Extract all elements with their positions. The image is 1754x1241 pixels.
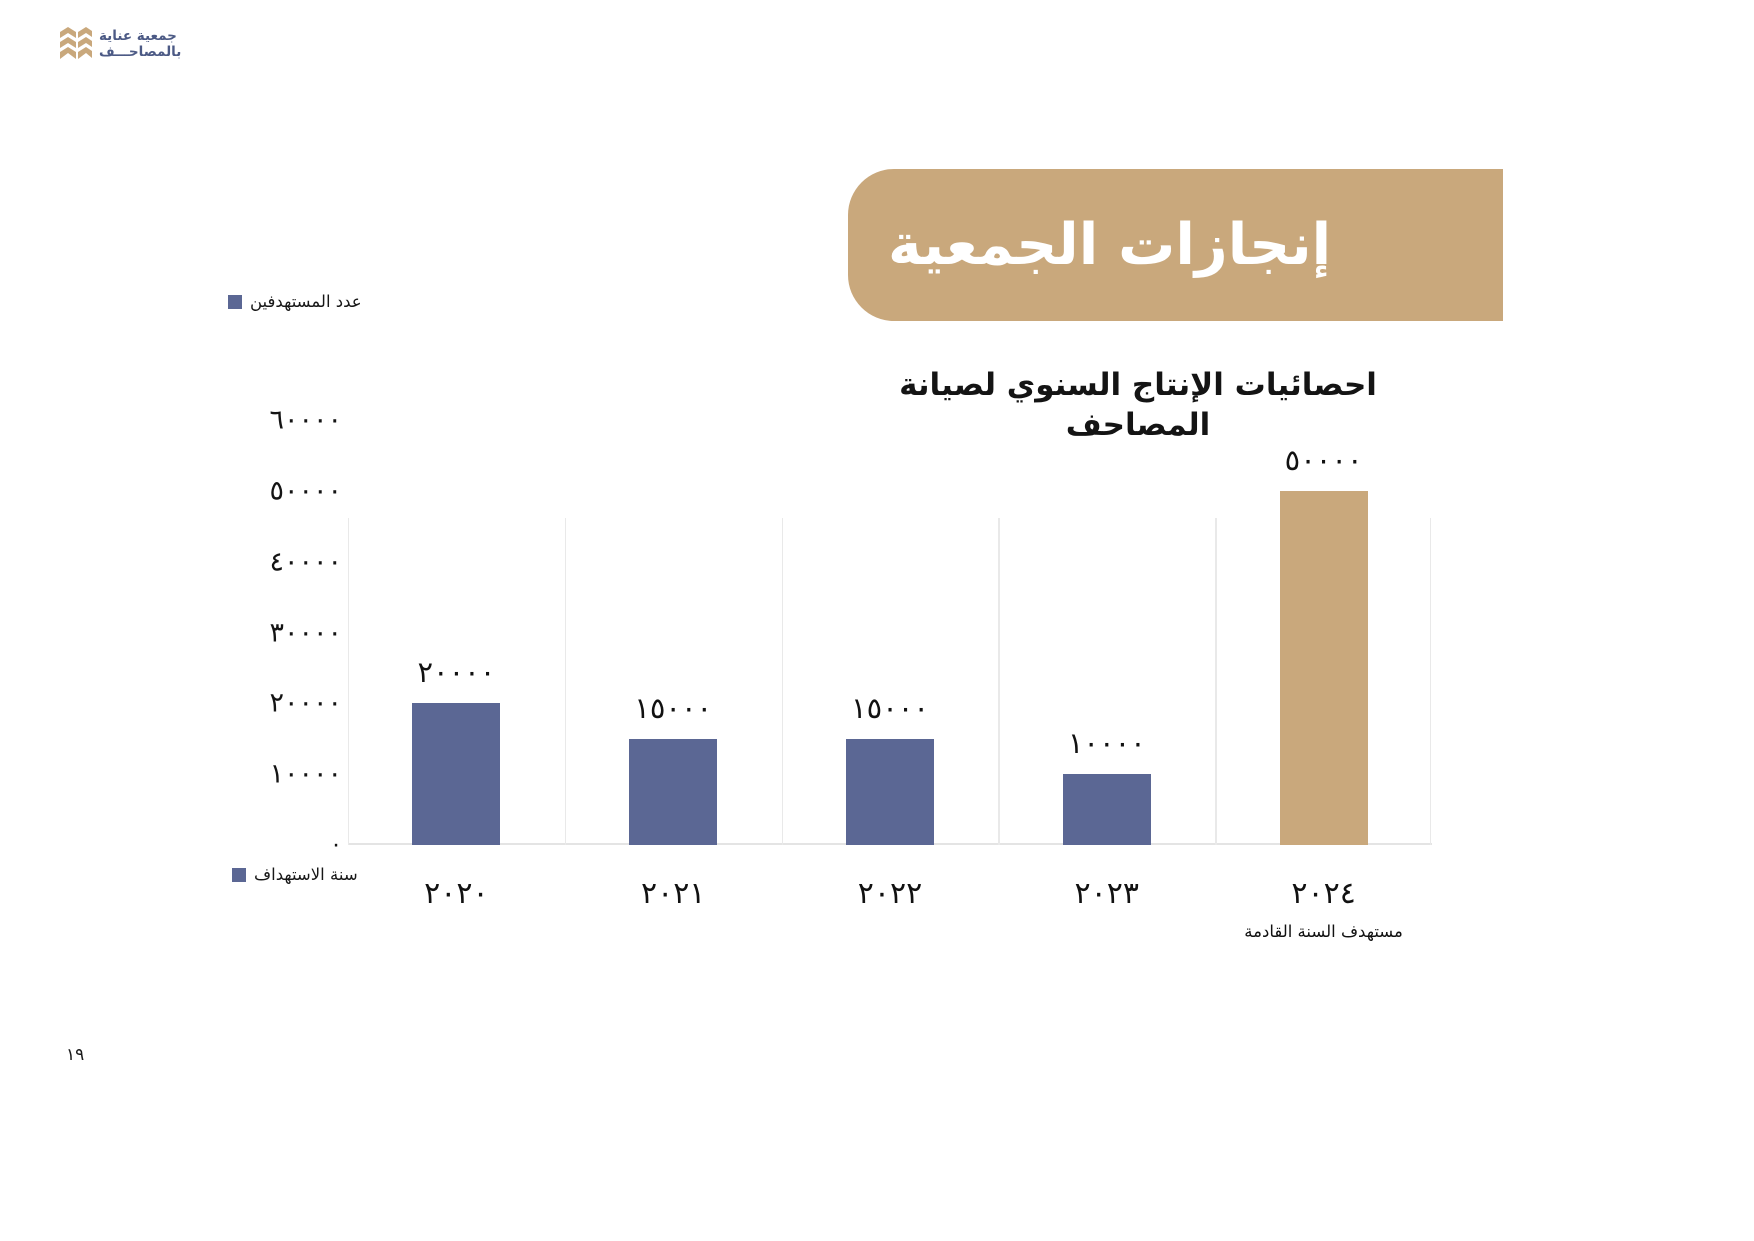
page-number: ١٩ (66, 1045, 84, 1065)
logo-wordmark: جمعية عناية بالمصاحـــف (99, 29, 181, 58)
bar-group: ٥٠٠٠٠٢٠٢٤مستهدف السنة القادمة (1215, 420, 1432, 845)
x-axis-category-label: ٢٠٢٠ (424, 876, 488, 911)
bar-group: ١٥٠٠٠٢٠٢٢ (782, 420, 999, 845)
organization-logo: جمعية عناية بالمصاحـــف (58, 20, 178, 68)
y-axis-tick: ١٠٠٠٠ (269, 759, 342, 790)
bar-value-label: ٢٠٠٠٠ (417, 655, 495, 689)
bar[interactable] (846, 739, 934, 845)
bar[interactable] (629, 739, 717, 845)
bar-group: ٢٠٠٠٠٢٠٢٠ (348, 420, 565, 845)
legend-swatch-icon (228, 295, 242, 309)
y-axis-tick: ٥٠٠٠٠ (269, 475, 342, 506)
page-title-banner: إنجازات الجمعية (848, 169, 1503, 321)
logo-line-1: جمعية عناية (99, 29, 177, 43)
logo-line-2: بالمصاحـــف (99, 45, 181, 59)
bar[interactable] (1280, 491, 1368, 845)
bar-group: ١٥٠٠٠٢٠٢١ (565, 420, 782, 845)
bar-value-label: ١٥٠٠٠ (851, 691, 929, 725)
bar[interactable] (1063, 774, 1151, 845)
slide-root: جمعية عناية بالمصاحـــف إنجازات الجمعية … (0, 0, 1754, 1241)
bar-annotation: مستهدف السنة القادمة (1244, 922, 1403, 941)
legend-swatch-icon (232, 868, 246, 882)
legend-series-targets: عدد المستهدفين (228, 292, 362, 311)
x-axis-category-label: ٢٠٢٤ (1291, 876, 1355, 911)
x-axis-category-label: ٢٠٢١ (641, 876, 705, 911)
bar-value-label: ٥٠٠٠٠ (1285, 443, 1363, 477)
bar-group: ١٠٠٠٠٢٠٢٣ (998, 420, 1215, 845)
y-axis-tick: ٠ (330, 833, 342, 858)
y-axis-tick: ٤٠٠٠٠ (269, 546, 342, 577)
x-axis-category-label: ٢٠٢٢ (858, 876, 922, 911)
legend-label-targets: عدد المستهدفين (250, 292, 362, 311)
x-axis-category-label: ٢٠٢٣ (1075, 876, 1139, 911)
bar[interactable] (412, 703, 500, 845)
y-axis-tick: ٦٠٠٠٠ (269, 405, 342, 436)
legend-label-year: سنة الاستهداف (254, 865, 358, 884)
logo-emblem-icon (58, 26, 92, 62)
y-axis-tick-labels: ٦٠٠٠٠٥٠٠٠٠٤٠٠٠٠٣٠٠٠٠٢٠٠٠٠١٠٠٠٠٠ (236, 420, 342, 845)
y-axis-tick: ٣٠٠٠٠ (269, 617, 342, 648)
page-title: إنجازات الجمعية (888, 217, 1331, 274)
y-axis-tick: ٢٠٠٠٠ (269, 688, 342, 719)
plot-grid-area: ٢٠٠٠٠٢٠٢٠١٥٠٠٠٢٠٢١١٥٠٠٠٢٠٢٢١٠٠٠٠٢٠٢٣٥٠٠٠… (348, 420, 1432, 845)
legend-series-year: سنة الاستهداف (232, 865, 358, 884)
bar-chart: ٦٠٠٠٠٥٠٠٠٠٤٠٠٠٠٣٠٠٠٠٢٠٠٠٠١٠٠٠٠٠ ٢٠٠٠٠٢٠٢… (236, 420, 1432, 845)
bar-value-label: ١٠٠٠٠ (1068, 726, 1146, 760)
bar-value-label: ١٥٠٠٠ (634, 691, 712, 725)
